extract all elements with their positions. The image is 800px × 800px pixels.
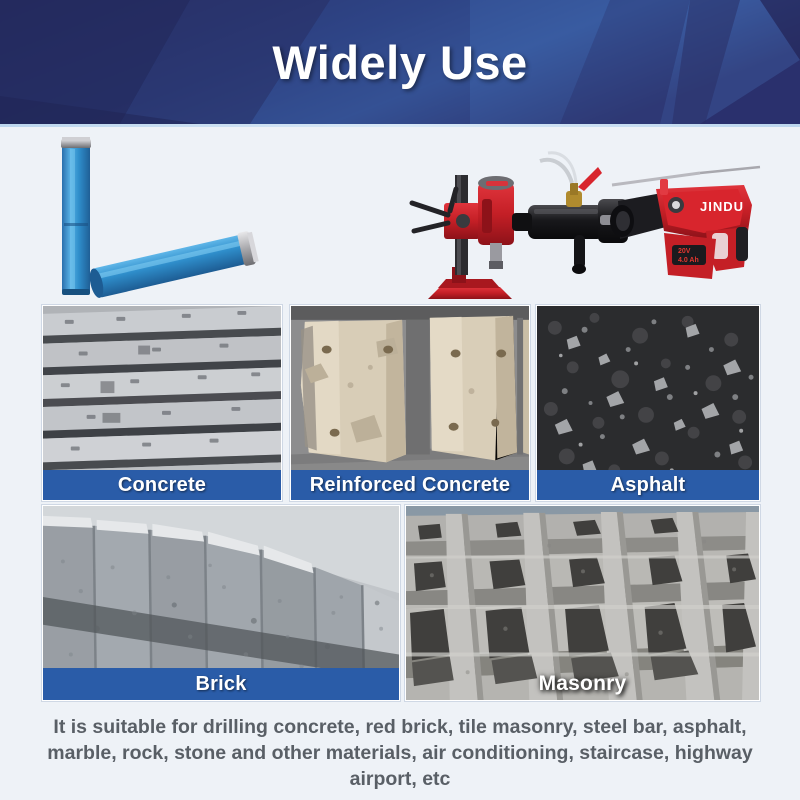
material-card-masonry[interactable]: Masonry: [405, 505, 760, 701]
core-bit-vertical: [61, 137, 91, 295]
svg-text:4.0 Ah: 4.0 Ah: [678, 257, 699, 264]
caption-label-brick: Brick: [195, 673, 246, 696]
tool-illustrations: JINDU 20V 4.0 Ah: [0, 127, 800, 303]
caption-label-reinforced-concrete: Reinforced Concrete: [310, 474, 511, 497]
hollow-concrete-blocks-photo: [406, 506, 759, 700]
caption-bar-brick: Brick: [43, 668, 399, 700]
footer-description-block: It is suitable for drilling concrete, re…: [0, 708, 800, 800]
header-banner: Widely Use: [0, 0, 800, 124]
caption-label-concrete: Concrete: [118, 474, 206, 497]
application-description: It is suitable for drilling concrete, re…: [19, 715, 781, 793]
caption-bar-reinforced-concrete: Reinforced Concrete: [291, 470, 529, 500]
svg-text:JINDU: JINDU: [700, 199, 744, 214]
svg-text:20V: 20V: [678, 248, 691, 255]
material-card-brick[interactable]: Brick: [42, 505, 400, 701]
caption-label-asphalt: Asphalt: [611, 474, 686, 497]
caption-bar-asphalt: Asphalt: [537, 470, 759, 500]
caption-overlay-masonry: Masonry: [406, 672, 759, 696]
caption-label-masonry: Masonry: [539, 672, 627, 696]
page-title: Widely Use: [0, 0, 800, 124]
caption-bar-concrete: Concrete: [43, 470, 281, 500]
material-card-asphalt[interactable]: Asphalt: [536, 305, 760, 501]
material-card-reinforced-concrete[interactable]: Reinforced Concrete: [290, 305, 530, 501]
tool-photo-strip: JINDU 20V 4.0 Ah: [0, 127, 800, 303]
material-card-concrete[interactable]: Concrete: [42, 305, 282, 501]
